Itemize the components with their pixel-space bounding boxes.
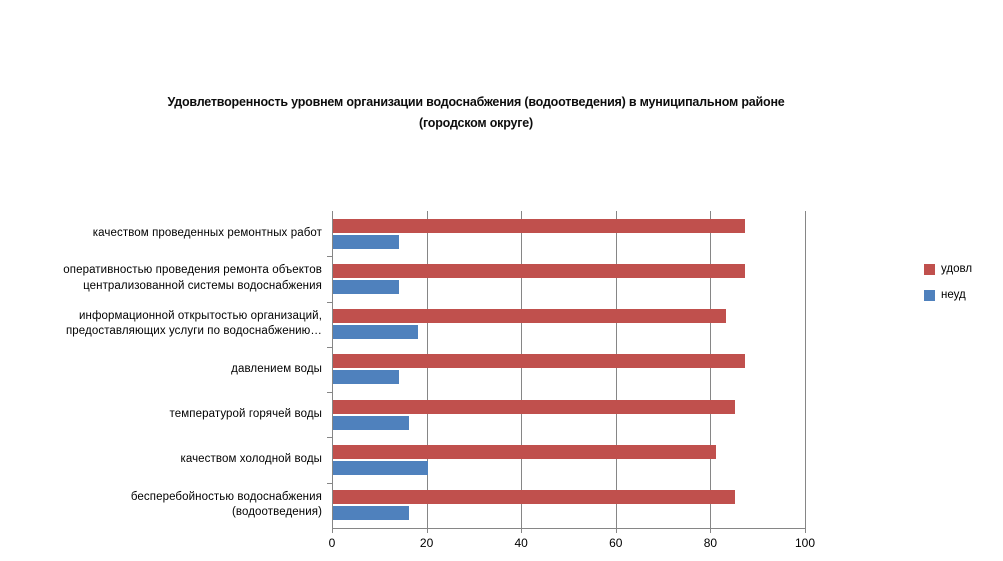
category-label-line: температурой горячей воды: [10, 407, 322, 423]
bar-group: [332, 302, 805, 347]
category-label: оперативностью проведения ремонта объект…: [10, 263, 332, 294]
chart-title: Удовлетворенность уровнем организации во…: [96, 92, 856, 134]
bar-неуд: [333, 325, 418, 339]
bar-group: [332, 392, 805, 437]
gridline-100: [805, 211, 806, 528]
category-label: информационной открытостью организаций,п…: [10, 309, 332, 340]
chart-title-line-2: (городском округе): [96, 113, 856, 134]
bar-group: [332, 211, 805, 256]
bar-group: [332, 437, 805, 482]
bar-group: [332, 483, 805, 528]
x-tick-20: [427, 528, 428, 533]
legend-item-удовл[interactable]: удовл: [924, 256, 999, 282]
bar-неуд: [333, 506, 409, 520]
x-tick-60: [616, 528, 617, 533]
bar-неуд: [333, 416, 409, 430]
x-tick-label: 40: [491, 536, 551, 550]
legend-label: неуд: [941, 289, 966, 301]
y-tick: [327, 483, 332, 484]
plot-area: 020406080100: [332, 211, 805, 528]
category-label-line: (водоотведения): [10, 505, 322, 521]
category-label-line: качеством холодной воды: [10, 452, 322, 468]
y-tick: [327, 302, 332, 303]
x-tick-label: 20: [397, 536, 457, 550]
bar-удовл: [333, 264, 745, 278]
category-label: бесперебойностью водоснабжения(водоотвед…: [10, 490, 332, 521]
y-tick: [327, 256, 332, 257]
x-tick-label: 80: [680, 536, 740, 550]
bar-неуд: [333, 370, 399, 384]
bar-удовл: [333, 490, 735, 504]
y-tick: [327, 392, 332, 393]
bar-удовл: [333, 445, 716, 459]
category-label-line: предоставляющих услуги по водоснабжению…: [10, 324, 322, 340]
x-tick-label: 0: [302, 536, 362, 550]
chart-legend: удовлнеуд: [924, 256, 999, 308]
legend-swatch-icon: [924, 290, 935, 301]
y-tick: [327, 347, 332, 348]
bar-неуд: [333, 280, 399, 294]
category-label: качеством проведенных ремонтных работ: [10, 226, 332, 242]
bar-удовл: [333, 219, 745, 233]
category-label-line: бесперебойностью водоснабжения: [10, 490, 322, 506]
bar-удовл: [333, 400, 735, 414]
category-label: температурой горячей воды: [10, 407, 332, 423]
x-tick-80: [710, 528, 711, 533]
bar-неуд: [333, 235, 399, 249]
x-axis-line: [332, 528, 806, 529]
legend-label: удовл: [941, 263, 972, 275]
legend-item-неуд[interactable]: неуд: [924, 282, 999, 308]
x-tick-40: [521, 528, 522, 533]
bar-удовл: [333, 354, 745, 368]
y-tick: [327, 437, 332, 438]
x-tick-100: [805, 528, 806, 533]
bar-удовл: [333, 309, 726, 323]
bar-group: [332, 256, 805, 301]
chart-title-line-1: Удовлетворенность уровнем организации во…: [96, 92, 856, 113]
category-label-line: централизованной системы водоснабжения: [10, 279, 322, 295]
bar-chart: Удовлетворенность уровнем организации во…: [0, 0, 1003, 561]
category-label-line: давлением воды: [10, 362, 322, 378]
category-label-line: информационной открытостью организаций,: [10, 309, 322, 325]
bar-group: [332, 347, 805, 392]
category-label-line: качеством проведенных ремонтных работ: [10, 226, 322, 242]
x-tick-label: 100: [775, 536, 835, 550]
category-label: давлением воды: [10, 362, 332, 378]
category-label-line: оперативностью проведения ремонта объект…: [10, 263, 322, 279]
category-label: качеством холодной воды: [10, 452, 332, 468]
legend-swatch-icon: [924, 264, 935, 275]
x-tick-0: [332, 528, 333, 533]
bar-неуд: [333, 461, 428, 475]
x-tick-label: 60: [586, 536, 646, 550]
